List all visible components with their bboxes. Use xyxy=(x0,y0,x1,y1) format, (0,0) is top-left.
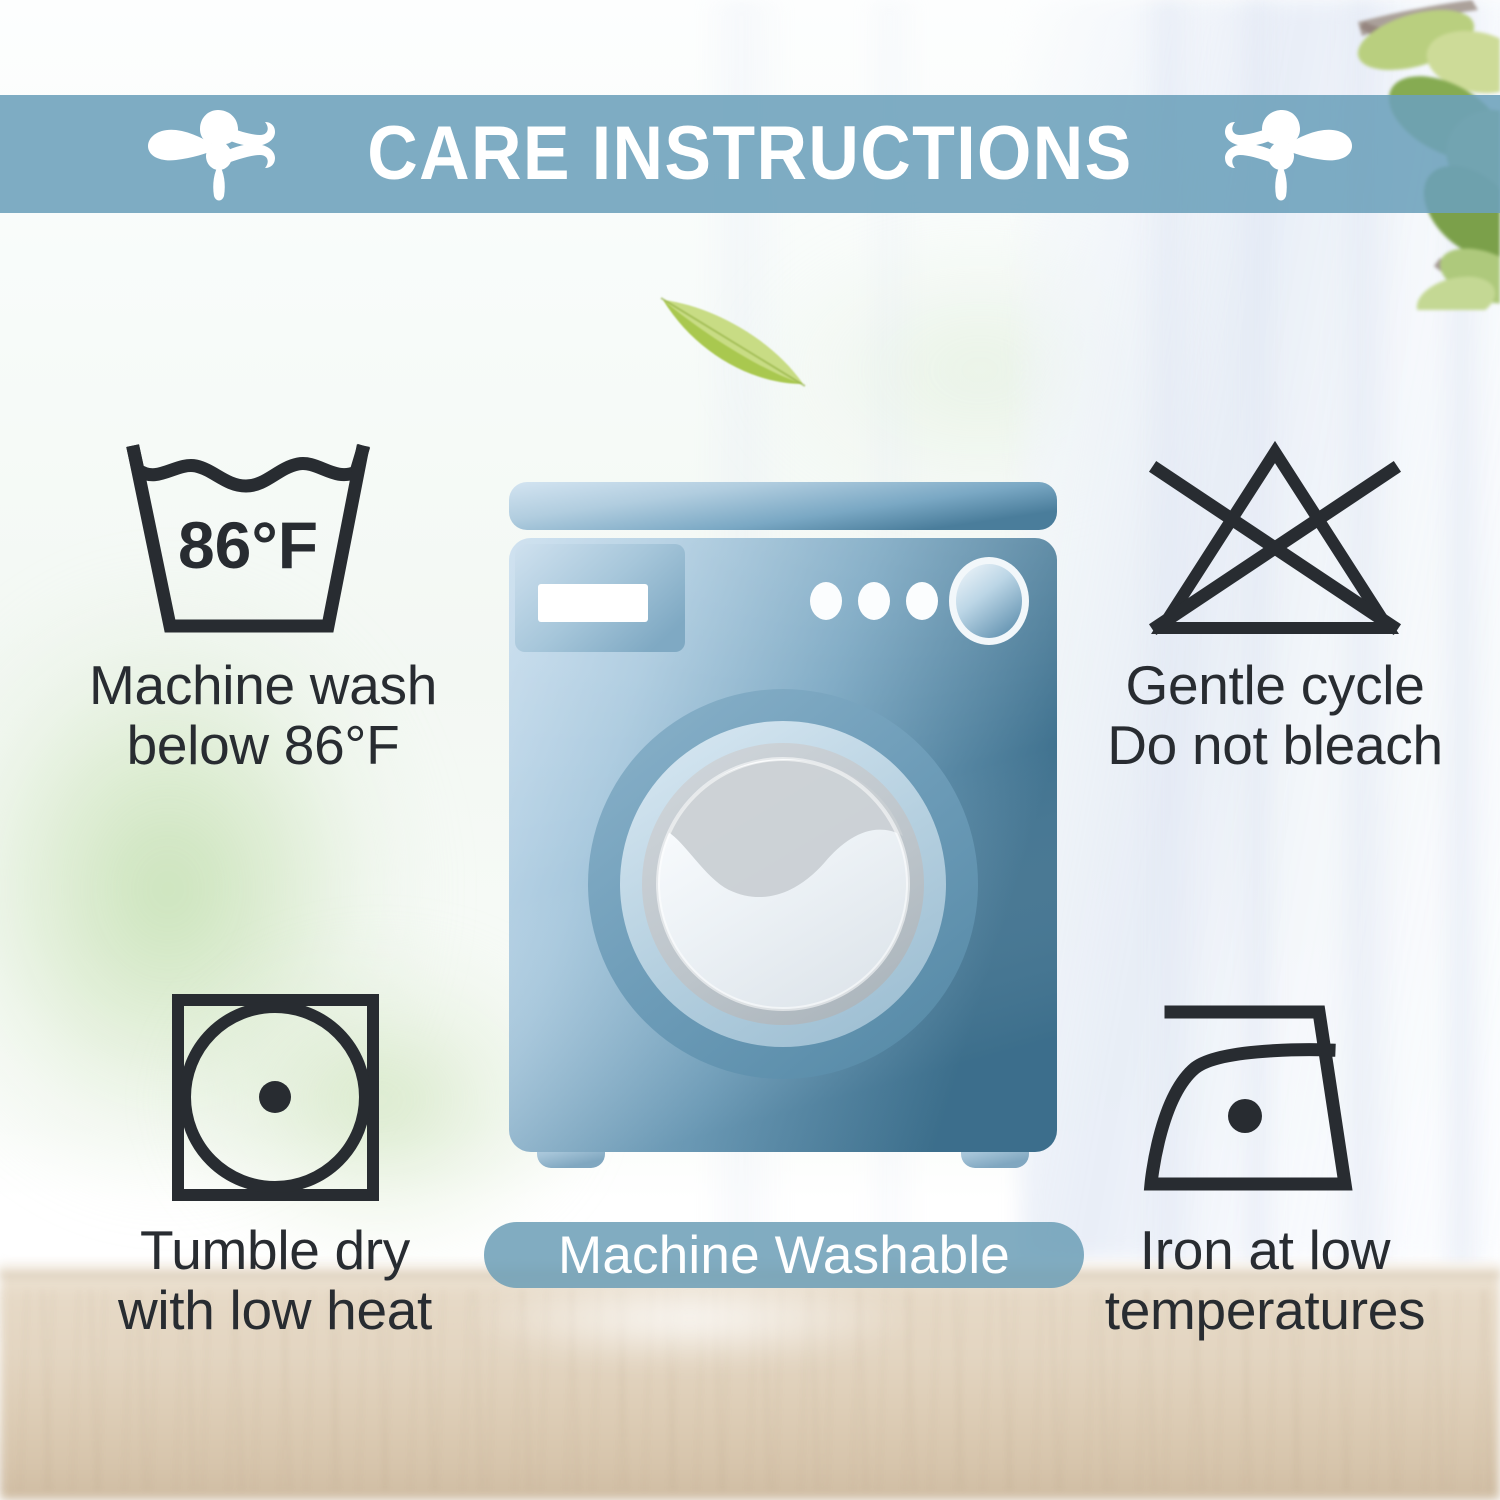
care-instructions-infographic: CARE INSTRUCTIONS 86°F Machi xyxy=(0,0,1500,1500)
badge-label: Machine Washable xyxy=(558,1229,1010,1282)
fleur-de-lis-icon xyxy=(144,102,294,206)
care-symbol-machine-wash: 86°F Machine wash below 86°F xyxy=(28,440,498,776)
care-symbol-do-not-bleach: Gentle cycle Do not bleach xyxy=(1040,440,1500,776)
iron-low-heat-icon xyxy=(1030,990,1500,1205)
wash-temperature-value: 86°F xyxy=(178,508,318,582)
care-symbol-caption: Tumble dry with low heat xyxy=(40,1221,510,1341)
care-symbol-caption: Machine wash below 86°F xyxy=(28,656,498,776)
care-symbol-caption: Gentle cycle Do not bleach xyxy=(1040,656,1500,776)
tumble-dry-low-icon xyxy=(40,990,510,1205)
fleur-de-lis-icon xyxy=(1206,102,1356,206)
green-leaf-icon xyxy=(655,280,815,395)
washing-machine-illustration xyxy=(495,470,1070,1190)
page-title: CARE INSTRUCTIONS xyxy=(367,116,1132,192)
care-symbol-iron-low: Iron at low temperatures xyxy=(1030,990,1500,1341)
machine-washable-badge: Machine Washable xyxy=(484,1222,1084,1288)
machine-indicator-light xyxy=(858,582,890,620)
machine-indicator-light xyxy=(810,582,842,620)
machine-lid xyxy=(509,482,1057,530)
machine-drawer-slot xyxy=(538,584,648,622)
triangle-crossed-out-icon xyxy=(1040,440,1500,640)
care-symbol-tumble-dry: Tumble dry with low heat xyxy=(40,990,510,1341)
care-symbol-caption: Iron at low temperatures xyxy=(1030,1221,1500,1341)
machine-dial-knob xyxy=(956,564,1022,638)
wash-tub-icon: 86°F xyxy=(28,440,498,640)
machine-indicator-light xyxy=(906,582,938,620)
header-banner: CARE INSTRUCTIONS xyxy=(0,95,1500,213)
